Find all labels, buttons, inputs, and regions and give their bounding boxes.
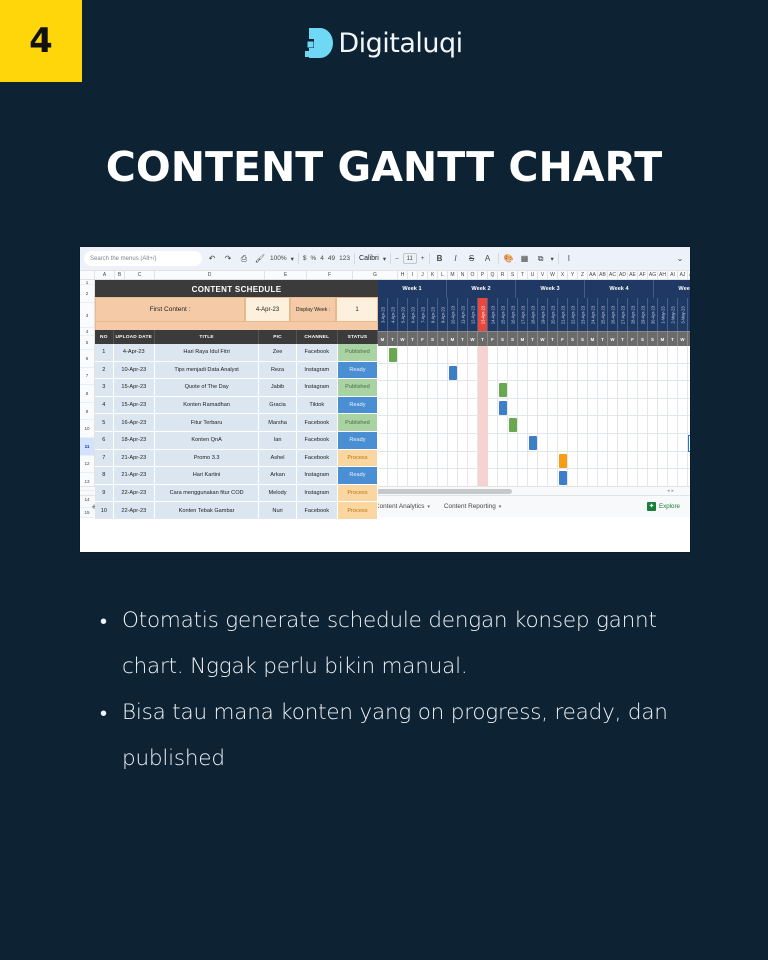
bullet-list-container: Otomatis generate schedule dengan konsep…: [92, 598, 692, 782]
date-header-label: 15-Apr-23: [500, 305, 505, 323]
cell-channel[interactable]: Facebook: [297, 432, 338, 450]
column-header-V[interactable]: V: [538, 271, 548, 279]
toolbar-divider: [498, 253, 499, 264]
cell-channel[interactable]: Instagram: [297, 379, 338, 397]
align-icon[interactable]: I: [563, 252, 575, 266]
day-of-week-cell: S: [428, 331, 438, 346]
gantt-chart-pane: Week 1Week 2Week 3Week 4Week 5Week 6 3-A…: [378, 280, 690, 486]
gantt-bars-area[interactable]: [378, 346, 690, 486]
column-header-T[interactable]: T: [518, 271, 528, 279]
table-row[interactable]: 1022-Apr-23Konten Tebak GambarNuriFacebo…: [95, 502, 378, 520]
status-badge[interactable]: Ready: [338, 467, 378, 485]
column-header-AH[interactable]: AH: [658, 271, 668, 279]
date-header-cell: 3-Apr-23: [378, 298, 388, 331]
column-header-A[interactable]: A: [95, 271, 115, 279]
date-header-cell: 9-Apr-23: [438, 298, 448, 331]
cell-channel[interactable]: Instagram: [297, 485, 338, 503]
status-badge[interactable]: Process: [338, 485, 378, 503]
date-header-label: 3-Apr-23: [380, 307, 385, 323]
gantt-grid-column: [458, 346, 468, 486]
gantt-grid-column: [608, 346, 618, 486]
date-header-label: 9-Apr-23: [440, 307, 445, 323]
cell-date[interactable]: 18-Apr-23: [114, 432, 155, 450]
date-header-cell: 10-Apr-23: [448, 298, 458, 331]
first-content-date-value[interactable]: 4-Apr-23: [245, 297, 290, 322]
table-header-row: NOUPLOAD DATETITLEPICCHANNELSTATUS: [95, 330, 378, 344]
gantt-bar[interactable]: [499, 401, 507, 415]
day-of-week-cell: M: [518, 331, 528, 346]
gantt-grid-column: [498, 346, 508, 486]
status-badge[interactable]: Published: [338, 379, 378, 397]
column-header-S[interactable]: S: [508, 271, 518, 279]
date-header-label: 24-Apr-23: [590, 305, 595, 323]
schedule-title-banner: CONTENT SCHEDULE: [95, 280, 378, 298]
date-header-label: 19-Apr-23: [540, 305, 545, 323]
cell-title[interactable]: Konten QnA: [155, 432, 260, 450]
date-header-cell: 22-Apr-23: [568, 298, 578, 331]
table-row[interactable]: 821-Apr-23Hari KartiniArkanInstagramRead…: [95, 467, 378, 485]
date-header-label: 14-Apr-23: [490, 305, 495, 323]
cell-no[interactable]: 9: [95, 485, 114, 503]
table-row[interactable]: 210-Apr-23Tips menjadi Data AnalystRezaI…: [95, 362, 378, 380]
date-header-label: 29-Apr-23: [640, 305, 645, 323]
row-header-4[interactable]: 4: [80, 328, 94, 336]
date-header-cell: 26-Apr-23: [608, 298, 618, 331]
chevron-down-icon[interactable]: ▾: [499, 504, 502, 510]
chevron-down-icon[interactable]: ▾: [427, 504, 430, 510]
date-header-label: 27-Apr-23: [620, 305, 625, 323]
digitaluqi-d-logo-icon: [305, 26, 335, 60]
cell-date[interactable]: 15-Apr-23: [114, 397, 155, 415]
week-header: Week 2: [447, 280, 516, 298]
spreadsheet-screenshot: Search the menus (Alt+/) ↶ ↷ ⎙ 🖌 100% ▾ …: [80, 247, 690, 552]
status-badge[interactable]: Ready: [338, 397, 378, 415]
cell-no[interactable]: 7: [95, 450, 114, 468]
column-header-P[interactable]: P: [478, 271, 488, 279]
fill-color-icon[interactable]: 🎨: [503, 252, 515, 266]
cell-date[interactable]: 21-Apr-23: [114, 467, 155, 485]
gantt-grid-column: [428, 346, 438, 486]
cell-pic[interactable]: Reza: [259, 362, 296, 380]
borders-icon[interactable]: ▦: [519, 252, 531, 266]
row-header-9[interactable]: 9: [80, 403, 94, 421]
day-of-week-cell: T: [548, 331, 558, 346]
row-header-7[interactable]: 7: [80, 368, 94, 386]
date-header-label: 16-Apr-23: [510, 305, 515, 323]
cell-date[interactable]: 22-Apr-23: [114, 502, 155, 520]
number-format-button[interactable]: 123: [339, 255, 350, 262]
column-header-AI[interactable]: AI: [668, 271, 678, 279]
gantt-bar[interactable]: [529, 436, 537, 450]
collapse-toolbar-icon[interactable]: ⌄: [674, 252, 686, 266]
toolbar-divider: [558, 253, 559, 264]
scroll-left-icon[interactable]: ◂: [667, 488, 670, 494]
cell-pic[interactable]: Gracia: [259, 397, 296, 415]
decrease-decimal-button[interactable]: 4: [320, 255, 324, 262]
gantt-bar[interactable]: [559, 454, 567, 468]
cell-title[interactable]: Fitur Terbaru: [155, 414, 260, 432]
explore-icon: ✦: [647, 502, 656, 511]
table-row[interactable]: 415-Apr-23Konten RamadhanGraciaTiktokRea…: [95, 397, 378, 415]
gantt-bar[interactable]: [499, 383, 507, 397]
day-of-week-cell: S: [638, 331, 648, 346]
day-of-week-cell: S: [578, 331, 588, 346]
cell-channel[interactable]: Instagram: [297, 467, 338, 485]
column-header-AE[interactable]: AE: [628, 271, 638, 279]
date-header-label: 6-Apr-23: [410, 307, 415, 323]
currency-format-button[interactable]: $: [303, 255, 307, 262]
explore-label: Explore: [659, 503, 680, 510]
gantt-grid-column: [488, 346, 498, 486]
meta-spacer-row: [95, 322, 378, 330]
date-header-cell: 1-May-23: [658, 298, 668, 331]
column-header-AC[interactable]: AC: [608, 271, 618, 279]
date-header-cell: 14-Apr-23: [488, 298, 498, 331]
gantt-grid-column: [538, 346, 548, 486]
cell-date[interactable]: 16-Apr-23: [114, 414, 155, 432]
display-week-value[interactable]: 1: [336, 297, 378, 322]
spreadsheet-grid: 123456789101112131415 CONTENT SCHEDULE F…: [80, 280, 690, 486]
week-header-row: Week 1Week 2Week 3Week 4Week 5Week 6: [378, 280, 690, 298]
gantt-grid-column: [418, 346, 428, 486]
cell-pic[interactable]: Arkan: [259, 467, 296, 485]
column-header-R[interactable]: R: [498, 271, 508, 279]
column-header-F[interactable]: F: [307, 271, 353, 279]
date-header-cell: 30-Apr-23: [648, 298, 658, 331]
day-of-week-cell: S: [438, 331, 448, 346]
day-of-week-cell: F: [558, 331, 568, 346]
cell-pic[interactable]: Melody: [259, 485, 296, 503]
table-row[interactable]: 721-Apr-23Promo 3.3AshelFacebookProcess: [95, 450, 378, 468]
cell-pic[interactable]: Ian: [259, 432, 296, 450]
column-header-I[interactable]: I: [408, 271, 418, 279]
date-header-cell: 17-Apr-23: [518, 298, 528, 331]
column-header-J[interactable]: J: [418, 271, 428, 279]
column-header-E[interactable]: E: [265, 271, 307, 279]
cell-no[interactable]: 5: [95, 414, 114, 432]
day-of-week-cell: T: [598, 331, 608, 346]
cell-channel[interactable]: Tiktok: [297, 397, 338, 415]
column-header-AK[interactable]: AK: [688, 271, 690, 279]
merge-cells-icon[interactable]: ⧉: [535, 252, 547, 266]
date-header-label: 22-Apr-23: [570, 305, 575, 323]
day-of-week-cell: T: [668, 331, 678, 346]
day-of-week-cell: T: [388, 331, 398, 346]
column-header-H[interactable]: H: [398, 271, 408, 279]
cell-channel[interactable]: Facebook: [297, 414, 338, 432]
cell-date[interactable]: 22-Apr-23: [114, 485, 155, 503]
status-badge[interactable]: Ready: [338, 432, 378, 450]
date-header-label: 25-Apr-23: [600, 305, 605, 323]
cell-pic[interactable]: Nuri: [259, 502, 296, 520]
cell-channel[interactable]: Facebook: [297, 502, 338, 520]
gantt-grid-column: [508, 346, 518, 486]
column-headers-right: HIJKLMNOPQRSTUVWXYZAAABACADAEAFAGAHAIAJA…: [398, 271, 690, 279]
gantt-grid-column: [568, 346, 578, 486]
status-badge[interactable]: Process: [338, 450, 378, 468]
date-header-cell: 19-Apr-23: [538, 298, 548, 331]
table-header-pic: PIC: [259, 330, 296, 344]
cell-title[interactable]: Promo 3.3: [155, 450, 260, 468]
gantt-grid-column: [438, 346, 448, 486]
column-header-Y[interactable]: Y: [568, 271, 578, 279]
status-badge[interactable]: Ready: [338, 362, 378, 380]
column-header-M[interactable]: M: [448, 271, 458, 279]
chevron-down-icon[interactable]: ▾: [291, 255, 294, 263]
column-header-AJ[interactable]: AJ: [678, 271, 688, 279]
search-menus-input[interactable]: Search the menus (Alt+/): [84, 251, 202, 266]
print-icon[interactable]: ⎙: [238, 252, 250, 266]
day-of-week-cell: F: [628, 331, 638, 346]
date-header-label: 26-Apr-23: [610, 305, 615, 323]
cell-date[interactable]: 15-Apr-23: [114, 379, 155, 397]
date-header-cell: 20-Apr-23: [548, 298, 558, 331]
column-header-C[interactable]: C: [125, 271, 155, 279]
cell-channel[interactable]: Facebook: [297, 344, 338, 362]
column-header-N[interactable]: N: [458, 271, 468, 279]
date-header-label: 5-Apr-23: [400, 307, 405, 323]
date-header-label: 10-Apr-23: [450, 305, 455, 323]
gantt-grid-column: [598, 346, 608, 486]
gantt-grid-column: [668, 346, 678, 486]
table-header-upload-date: UPLOAD DATE: [114, 330, 155, 344]
first-content-label: First Content :: [95, 297, 245, 322]
toolbar-divider: [354, 253, 355, 264]
bullet-item: Bisa tau mana konten yang on progress, r…: [122, 690, 692, 782]
row-header-13[interactable]: 13: [80, 473, 94, 491]
font-size-input[interactable]: 11: [403, 253, 417, 264]
status-badge[interactable]: Process: [338, 502, 378, 520]
font-name-select[interactable]: Calibri: [359, 255, 379, 262]
schedule-table-pane: CONTENT SCHEDULE First Content : 4-Apr-2…: [95, 280, 378, 486]
spreadsheet-toolbar: Search the menus (Alt+/) ↶ ↷ ⎙ 🖌 100% ▾ …: [80, 247, 690, 271]
table-header-channel: CHANNEL: [297, 330, 338, 344]
increase-decimal-button[interactable]: 49: [328, 255, 335, 262]
sheet-tab-content-reporting[interactable]: Content Reporting▾: [437, 496, 508, 518]
column-header-AF[interactable]: AF: [638, 271, 648, 279]
table-header-title: TITLE: [155, 330, 260, 344]
cell-title[interactable]: Hari Raya Idul Fitri: [155, 344, 260, 362]
gantt-grid-column: [648, 346, 658, 486]
date-header-label: 2-May-23: [670, 306, 675, 323]
explore-button[interactable]: ✦ Explore: [647, 502, 684, 511]
decrease-font-size-button[interactable]: –: [395, 255, 399, 262]
table-row[interactable]: 315-Apr-23Quote of The DayJabibInstagram…: [95, 379, 378, 397]
redo-icon[interactable]: ↷: [222, 252, 234, 266]
brand-name: Digitaluqi: [338, 28, 462, 59]
cell-no[interactable]: 1: [95, 344, 114, 362]
column-header-AD[interactable]: AD: [618, 271, 628, 279]
cell-pic[interactable]: Marsha: [259, 414, 296, 432]
column-header-U[interactable]: U: [528, 271, 538, 279]
day-of-week-row: MTWTFSSMTWTFSSMTWTFSSMTWTFSSMTWTFSSMTWTF: [378, 331, 690, 346]
table-row[interactable]: 922-Apr-23Cara menggunakan fitur CODMelo…: [95, 485, 378, 503]
increase-font-size-button[interactable]: +: [421, 255, 425, 262]
toolbar-divider: [390, 253, 391, 264]
cell-no[interactable]: 2: [95, 362, 114, 380]
paint-format-icon[interactable]: 🖌: [254, 252, 266, 266]
date-header-label: 7-Apr-23: [420, 307, 425, 323]
day-of-week-cell: M: [448, 331, 458, 346]
display-week-label: Display Week :: [290, 297, 336, 322]
undo-icon[interactable]: ↶: [206, 252, 218, 266]
percent-format-button[interactable]: %: [311, 255, 317, 262]
text-color-button[interactable]: A: [482, 252, 494, 266]
cell-pic[interactable]: Zee: [259, 344, 296, 362]
zoom-level-value[interactable]: 100%: [270, 255, 287, 262]
gantt-grid-column: [468, 346, 478, 486]
search-input-placeholder: Search the menus (Alt+/): [90, 256, 157, 262]
gantt-grid-column: [548, 346, 558, 486]
chevron-down-icon[interactable]: ▾: [551, 255, 554, 263]
row-header-8[interactable]: 8: [80, 385, 94, 403]
gantt-grid-column: [658, 346, 668, 486]
date-header-label: 18-Apr-23: [530, 305, 535, 323]
cell-title[interactable]: Cara menggunakan fitur COD: [155, 485, 260, 503]
column-header-W[interactable]: W: [548, 271, 558, 279]
sheet-tab-content-analytics[interactable]: Content Analytics▾: [368, 496, 437, 518]
day-of-week-cell: M: [658, 331, 668, 346]
cell-date[interactable]: 21-Apr-23: [114, 450, 155, 468]
date-header-label: 3-May-23: [680, 306, 685, 323]
cell-pic[interactable]: Ashel: [259, 450, 296, 468]
column-header-K[interactable]: K: [428, 271, 438, 279]
row-header-10[interactable]: 10: [80, 420, 94, 438]
date-header-cell: 15-Apr-23: [498, 298, 508, 331]
date-header-cell: 12-Apr-23: [468, 298, 478, 331]
cell-title[interactable]: Konten Tebak Gambar: [155, 502, 260, 520]
day-of-week-cell: W: [468, 331, 478, 346]
day-of-week-cell: T: [458, 331, 468, 346]
column-header-G[interactable]: G: [353, 271, 398, 279]
week-header: Week 5: [654, 280, 690, 298]
corner-cell[interactable]: [80, 271, 95, 279]
date-header-cell: 7-Apr-23: [418, 298, 428, 331]
bullet-item: Otomatis generate schedule dengan konsep…: [122, 598, 692, 690]
page-title: CONTENT GANTT CHART: [0, 143, 768, 191]
row-header-12[interactable]: 12: [80, 456, 94, 474]
gantt-bar[interactable]: [559, 471, 567, 485]
gantt-grid-column: [688, 346, 690, 486]
date-header-label: 13-Apr-23: [480, 305, 485, 323]
day-of-week-cell: W: [608, 331, 618, 346]
today-marker-band: [478, 346, 488, 486]
column-header-row: ABCDEFG HIJKLMNOPQRSTUVWXYZAAABACADAEAFA…: [80, 271, 690, 280]
cell-pic[interactable]: Jabib: [259, 379, 296, 397]
gantt-grid-column: [528, 346, 538, 486]
column-header-AG[interactable]: AG: [648, 271, 658, 279]
column-header-X[interactable]: X: [558, 271, 568, 279]
gantt-grid-column: [388, 346, 398, 486]
column-header-AA[interactable]: AA: [588, 271, 598, 279]
cell-channel[interactable]: Instagram: [297, 362, 338, 380]
strikethrough-button[interactable]: S: [466, 252, 478, 266]
column-header-Q[interactable]: Q: [488, 271, 498, 279]
column-header-O[interactable]: O: [468, 271, 478, 279]
gantt-grid-column: [618, 346, 628, 486]
gantt-grid-column: [628, 346, 638, 486]
date-header-label: 28-Apr-23: [630, 305, 635, 323]
gantt-grid-column: [378, 346, 388, 486]
active-cell-cursor[interactable]: [688, 435, 690, 452]
date-header-cell: 24-Apr-23: [588, 298, 598, 331]
row-header-11[interactable]: 11: [80, 438, 94, 456]
table-row[interactable]: 516-Apr-23Fitur TerbaruMarshaFacebookPub…: [95, 414, 378, 432]
cell-no[interactable]: 10: [95, 502, 114, 520]
date-header-cell: 5-Apr-23: [398, 298, 408, 331]
row-header-6[interactable]: 6: [80, 350, 94, 368]
date-header-cell: 16-Apr-23: [508, 298, 518, 331]
cell-title[interactable]: Tips menjadi Data Analyst: [155, 362, 260, 380]
cell-no[interactable]: 4: [95, 397, 114, 415]
day-of-week-cell: W: [538, 331, 548, 346]
week-header: Week 1: [378, 280, 447, 298]
cell-no[interactable]: 3: [95, 379, 114, 397]
day-of-week-cell: T: [408, 331, 418, 346]
bold-button[interactable]: B: [434, 252, 446, 266]
day-of-week-cell: S: [498, 331, 508, 346]
cell-title[interactable]: Hari Kartini: [155, 467, 260, 485]
gantt-grid-column: [588, 346, 598, 486]
gantt-bar[interactable]: [449, 366, 457, 380]
day-of-week-cell: S: [568, 331, 578, 346]
date-header-label: 23-Apr-23: [580, 305, 585, 323]
day-of-week-cell: M: [588, 331, 598, 346]
column-header-Z[interactable]: Z: [578, 271, 588, 279]
cell-date[interactable]: 4-Apr-23: [114, 344, 155, 362]
row-header-3[interactable]: 3: [80, 303, 94, 328]
date-header-label: 21-Apr-23: [560, 305, 565, 323]
table-row[interactable]: 14-Apr-23Hari Raya Idul FitriZeeFacebook…: [95, 344, 378, 362]
chevron-down-icon[interactable]: ▾: [383, 255, 386, 263]
column-header-B[interactable]: B: [115, 271, 125, 279]
table-row[interactable]: 618-Apr-23Konten QnAIanFacebookReady: [95, 432, 378, 450]
cell-title[interactable]: Quote of The Day: [155, 379, 260, 397]
day-of-week-cell: M: [378, 331, 388, 346]
italic-button[interactable]: I: [450, 252, 462, 266]
cell-no[interactable]: 8: [95, 467, 114, 485]
date-header-label: 4-Apr-23: [390, 307, 395, 323]
date-header-label: 20-Apr-23: [550, 305, 555, 323]
date-header-cell: 4-May-23: [688, 298, 690, 331]
toolbar-divider: [298, 253, 299, 264]
scroll-right-icon[interactable]: ▸: [671, 488, 674, 494]
date-header-cell: 13-Apr-23: [478, 298, 488, 331]
row-header-5[interactable]: 5: [80, 336, 94, 350]
cell-no[interactable]: 6: [95, 432, 114, 450]
date-header-row: 3-Apr-234-Apr-235-Apr-236-Apr-237-Apr-23…: [378, 298, 690, 331]
cell-channel[interactable]: Facebook: [297, 450, 338, 468]
status-badge[interactable]: Published: [338, 344, 378, 362]
cell-title[interactable]: Konten Ramadhan: [155, 397, 260, 415]
row-header-2[interactable]: 2: [80, 285, 94, 303]
column-header-AB[interactable]: AB: [598, 271, 608, 279]
date-header-cell: 11-Apr-23: [458, 298, 468, 331]
day-of-week-cell: S: [648, 331, 658, 346]
gantt-grid-column: [408, 346, 418, 486]
week-header: Week 3: [516, 280, 585, 298]
column-header-L[interactable]: L: [438, 271, 448, 279]
status-badge[interactable]: Published: [338, 414, 378, 432]
gantt-grid-column: [578, 346, 588, 486]
date-header-label: 11-Apr-23: [460, 306, 465, 324]
toolbar-divider: [429, 253, 430, 264]
gantt-bar[interactable]: [389, 348, 397, 362]
day-of-week-cell: W: [398, 331, 408, 346]
gantt-bar[interactable]: [509, 418, 517, 432]
column-header-D[interactable]: D: [155, 271, 265, 279]
cell-date[interactable]: 10-Apr-23: [114, 362, 155, 380]
